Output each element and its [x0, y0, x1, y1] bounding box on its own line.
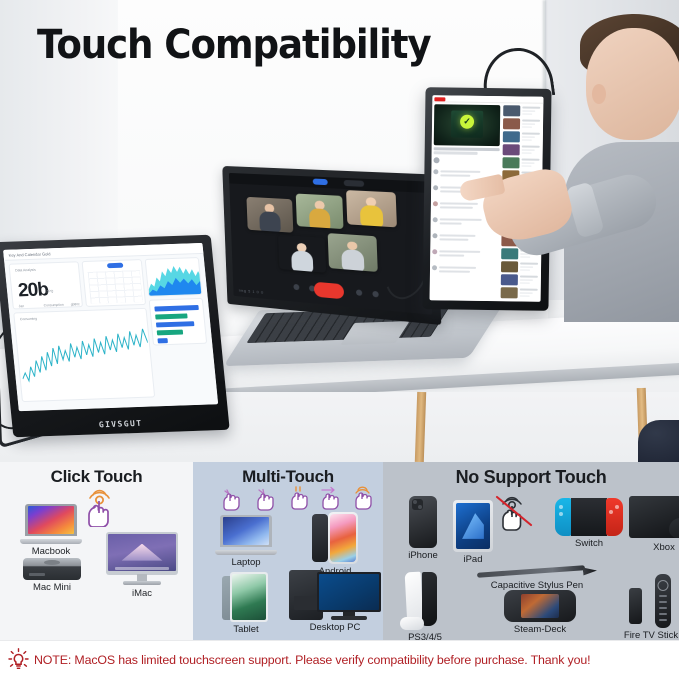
portable-monitor-left: Key And Calendar Gold Data Analysis 20b … [0, 235, 230, 438]
panel-title-multi-touch: Multi-Touch [193, 462, 383, 487]
check-badge-icon [460, 115, 474, 129]
device-label: Xbox [627, 542, 679, 553]
device-label: Laptop [205, 557, 287, 568]
list-item[interactable] [503, 105, 541, 117]
device-label: Desktop PC [287, 622, 383, 633]
page-title: Touch Compatibility [37, 22, 431, 68]
switch-icon [555, 498, 623, 536]
ipad-icon [453, 500, 493, 552]
note-bar: NOTE: MacOS has limited touchscreen supp… [0, 640, 679, 679]
participant-tile [278, 235, 326, 273]
device-imac: iMac [98, 532, 186, 599]
device-mac-mini: Mac Mini [10, 558, 94, 593]
video-subtitle [434, 151, 478, 154]
android-back-phone [312, 514, 328, 562]
metric-label: Data Analysis [15, 268, 36, 273]
imac-icon [106, 532, 178, 586]
device-label: PS3/4/5 [387, 632, 463, 640]
device-label: Mac Mini [10, 582, 94, 593]
end-call-button[interactable] [313, 282, 343, 300]
line-chart-card: Consuming [13, 308, 155, 402]
comment-avatar [433, 169, 438, 174]
meeting-control[interactable] [293, 284, 299, 290]
panel-title-no-support-touch: No Support Touch [383, 462, 679, 488]
device-label: Switch [547, 538, 631, 549]
participant-tile [246, 197, 293, 232]
android-phone-icon [328, 512, 358, 564]
calendar-card [82, 259, 147, 307]
iphone-icon [409, 496, 437, 548]
comment-avatar [432, 265, 437, 270]
brand-logo: GIVSGUT [98, 419, 142, 429]
device-ipad: iPad [441, 500, 505, 565]
participant-tile [295, 193, 344, 229]
tablet-icon [230, 572, 268, 622]
comment-avatar [433, 201, 438, 206]
macbook-icon [20, 504, 82, 544]
device-stylus-pen: Capacitive Stylus Pen [467, 566, 607, 591]
compatibility-panels: Click Touch Macbook [0, 462, 679, 640]
line-chart-label: Consuming [20, 317, 38, 322]
area-chart-card [145, 257, 203, 297]
device-xbox: Xbox [627, 496, 679, 553]
desktop-pc-icon [289, 568, 381, 620]
product-marketing-image: Key And Calendar Gold Data Analysis 20b … [0, 0, 679, 679]
bar-chart-card [149, 298, 208, 346]
device-playstation: PS3/4/5 [387, 572, 463, 640]
device-label: iPad [441, 554, 505, 565]
device-label: iMac [98, 588, 186, 599]
list-item[interactable] [501, 287, 539, 299]
list-item[interactable] [503, 118, 541, 130]
meeting-control[interactable] [373, 291, 379, 298]
panel-title-click-touch: Click Touch [0, 462, 193, 487]
video-site-logo [434, 97, 445, 101]
list-item[interactable] [501, 274, 539, 286]
device-laptop: Laptop [205, 515, 287, 568]
playstation-icon [402, 572, 448, 630]
stylus-pen-icon [477, 566, 597, 578]
person-ear [592, 84, 606, 104]
note-text: NOTE: MacOS has limited touchscreen supp… [34, 653, 590, 667]
panel-multi-touch: Multi-Touch [193, 462, 383, 640]
device-tablet: Tablet [205, 572, 287, 635]
pinch-gesture-icon [255, 488, 279, 517]
line-chart [18, 323, 152, 391]
device-macbook: Macbook [8, 504, 94, 557]
device-fire-tv-stick: Fire TV Stick [605, 574, 679, 640]
meeting-control[interactable] [356, 289, 362, 296]
area-chart [146, 258, 203, 297]
panel-click-touch: Click Touch Macbook [0, 462, 193, 640]
device-label: Fire TV Stick [605, 630, 679, 640]
panel-no-support-touch: No Support Touch iPhone iPad [383, 462, 679, 640]
device-desktop-pc: Desktop PC [287, 568, 383, 633]
metric-value: 20b [17, 279, 49, 302]
device-label: Macbook [8, 546, 94, 557]
comment-avatar [432, 233, 437, 238]
dashboard-app: Key And Calendar Gold Data Analysis 20b … [3, 243, 218, 411]
list-item[interactable] [503, 144, 541, 156]
calendar-grid [88, 270, 143, 304]
channel-avatar [433, 157, 439, 163]
fire-tv-stick-icon [629, 574, 673, 628]
monitor-screen-left: Key And Calendar Gold Data Analysis 20b … [3, 243, 218, 411]
video-site-header [432, 95, 543, 104]
dashboard-title: Key And Calendar Gold [8, 251, 50, 257]
comment-avatar [432, 249, 437, 254]
comment-avatar [433, 217, 438, 222]
participant-tile [328, 233, 378, 271]
list-item[interactable] [503, 131, 541, 143]
lightbulb-icon [8, 648, 29, 672]
device-label: Tablet [205, 624, 287, 635]
list-item[interactable] [501, 261, 539, 273]
office-chair [638, 420, 679, 462]
rotate-gesture-icon [221, 488, 245, 517]
device-switch: Switch [547, 498, 631, 549]
laptop-icon [215, 515, 277, 555]
hero-photo: Key And Calendar Gold Data Analysis 20b … [0, 0, 679, 462]
metric-card: Data Analysis 20b ZPQ Jan Consumption gb… [8, 261, 83, 309]
steam-deck-icon [504, 590, 576, 622]
person-using-monitor [556, 0, 679, 322]
device-label: Steam-Deck [493, 624, 587, 635]
list-item[interactable] [502, 157, 540, 169]
video-player[interactable] [434, 104, 501, 146]
mac-mini-icon [23, 558, 81, 580]
comment-avatar [433, 185, 438, 190]
calendar-badge [107, 263, 124, 269]
xbox-icon [629, 496, 679, 540]
device-steam-deck: Steam-Deck [493, 590, 587, 635]
participant-tile [346, 190, 397, 228]
